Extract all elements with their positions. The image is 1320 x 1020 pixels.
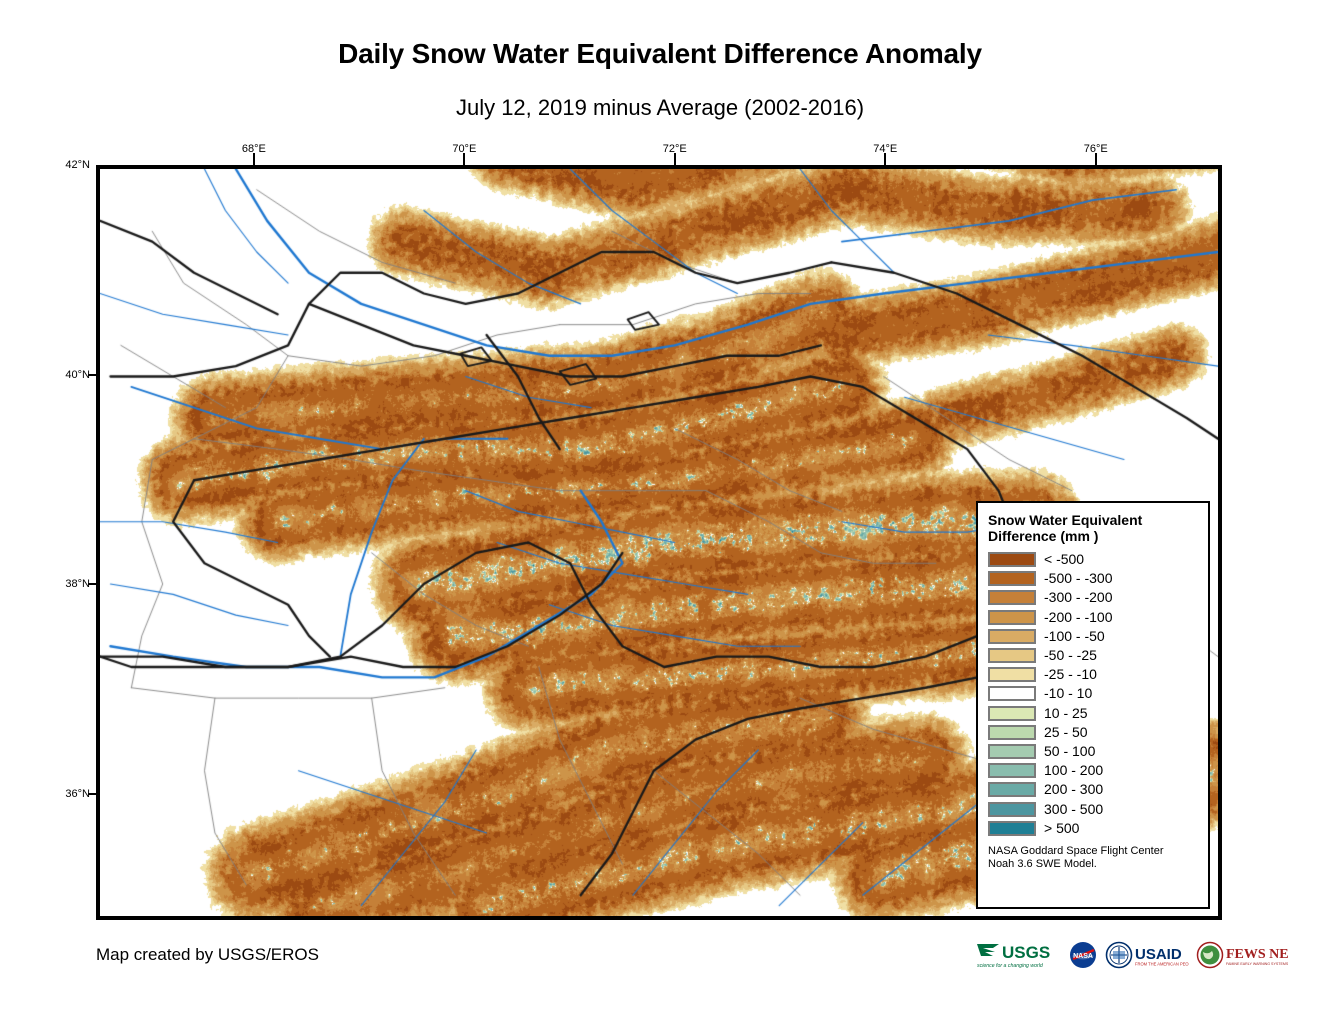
page-subtitle: July 12, 2019 minus Average (2002-2016) (0, 95, 1320, 121)
legend-row: 300 - 500 (988, 799, 1208, 818)
legend-row: -300 - -200 (988, 588, 1208, 607)
legend-swatch (988, 782, 1036, 797)
legend-source: NASA Goddard Space Flight Center Noah 3.… (988, 845, 1208, 871)
legend-swatch (988, 610, 1036, 625)
legend-label: 200 - 300 (1044, 782, 1103, 797)
legend-label: -100 - -50 (1044, 629, 1105, 644)
legend-title-line2: Difference (mm ) (988, 528, 1208, 544)
legend-label: > 500 (1044, 821, 1079, 836)
legend-row: 10 - 25 (988, 704, 1208, 723)
nasa-logo[interactable]: NASA (1068, 939, 1098, 971)
lat-tick-label: 38°N (60, 578, 90, 590)
legend-swatch (988, 706, 1036, 721)
svg-text:USGS: USGS (1002, 943, 1050, 962)
legend-row: 100 - 200 (988, 761, 1208, 780)
svg-text:USAID: USAID (1135, 946, 1182, 963)
legend-row: > 500 (988, 819, 1208, 838)
legend-row: -10 - 10 (988, 684, 1208, 703)
legend-swatch (988, 571, 1036, 586)
svg-text:FROM THE AMERICAN PEOPLE: FROM THE AMERICAN PEOPLE (1135, 962, 1189, 967)
legend-row: -200 - -100 (988, 608, 1208, 627)
usaid-logo[interactable]: USAID FROM THE AMERICAN PEOPLE (1105, 939, 1189, 971)
svg-text:FAMINE EARLY WARNING SYSTEMS N: FAMINE EARLY WARNING SYSTEMS NETWORK (1226, 962, 1288, 966)
legend-label: 50 - 100 (1044, 744, 1095, 759)
legend-swatch (988, 725, 1036, 740)
legend-row: -100 - -50 (988, 627, 1208, 646)
legend-label: 100 - 200 (1044, 763, 1103, 778)
legend-label: -200 - -100 (1044, 610, 1112, 625)
legend-label: -300 - -200 (1044, 590, 1112, 605)
legend-swatch (988, 629, 1036, 644)
legend-swatch (988, 686, 1036, 701)
legend-swatch (988, 667, 1036, 682)
fewsnet-logo[interactable]: FEWS NET FAMINE EARLY WARNING SYSTEMS NE… (1196, 939, 1288, 971)
legend-swatch (988, 552, 1036, 567)
legend-source-line2: Noah 3.6 SWE Model. (988, 858, 1208, 871)
legend-row: 25 - 50 (988, 723, 1208, 742)
legend-label: -10 - 10 (1044, 686, 1092, 701)
legend-swatch (988, 821, 1036, 836)
legend-swatch (988, 590, 1036, 605)
lon-tick-mark (1095, 153, 1097, 165)
legend-swatch (988, 802, 1036, 817)
legend-label: -500 - -300 (1044, 571, 1112, 586)
lon-tick-mark (253, 153, 255, 165)
lon-tick-mark (674, 153, 676, 165)
legend-label: 10 - 25 (1044, 706, 1088, 721)
agency-logo-bar: USGS science for a changing world NASA U… (975, 938, 1288, 972)
legend-swatch (988, 648, 1036, 663)
legend-row: 50 - 100 (988, 742, 1208, 761)
legend-row: 200 - 300 (988, 780, 1208, 799)
legend-entries: < -500-500 - -300-300 - -200-200 - -100-… (988, 550, 1208, 838)
legend-row: -500 - -300 (988, 569, 1208, 588)
legend-source-line1: NASA Goddard Space Flight Center (988, 845, 1208, 858)
lon-tick-mark (463, 153, 465, 165)
legend-label: 25 - 50 (1044, 725, 1088, 740)
legend-panel: Snow Water Equivalent Difference (mm ) <… (976, 501, 1210, 909)
legend-row: < -500 (988, 550, 1208, 569)
legend-label: < -500 (1044, 552, 1084, 567)
page-title: Daily Snow Water Equivalent Difference A… (0, 38, 1320, 70)
legend-swatch (988, 744, 1036, 759)
svg-text:FEWS NET: FEWS NET (1226, 947, 1288, 962)
lon-tick-mark (884, 153, 886, 165)
legend-label: 300 - 500 (1044, 802, 1103, 817)
map-credit: Map created by USGS/EROS (96, 945, 319, 965)
lat-tick-label: 40°N (60, 369, 90, 381)
lat-tick-label: 36°N (60, 788, 90, 800)
legend-swatch (988, 763, 1036, 778)
svg-text:NASA: NASA (1073, 953, 1093, 960)
svg-text:science for a changing world: science for a changing world (977, 963, 1044, 969)
lat-tick-label: 42°N (60, 159, 90, 171)
legend-title: Snow Water Equivalent Difference (mm ) (988, 512, 1208, 544)
legend-label: -25 - -10 (1044, 667, 1097, 682)
usgs-logo[interactable]: USGS science for a changing world (975, 939, 1061, 971)
legend-row: -50 - -25 (988, 646, 1208, 665)
legend-row: -25 - -10 (988, 665, 1208, 684)
legend-label: -50 - -25 (1044, 648, 1097, 663)
legend-title-line1: Snow Water Equivalent (988, 512, 1208, 528)
